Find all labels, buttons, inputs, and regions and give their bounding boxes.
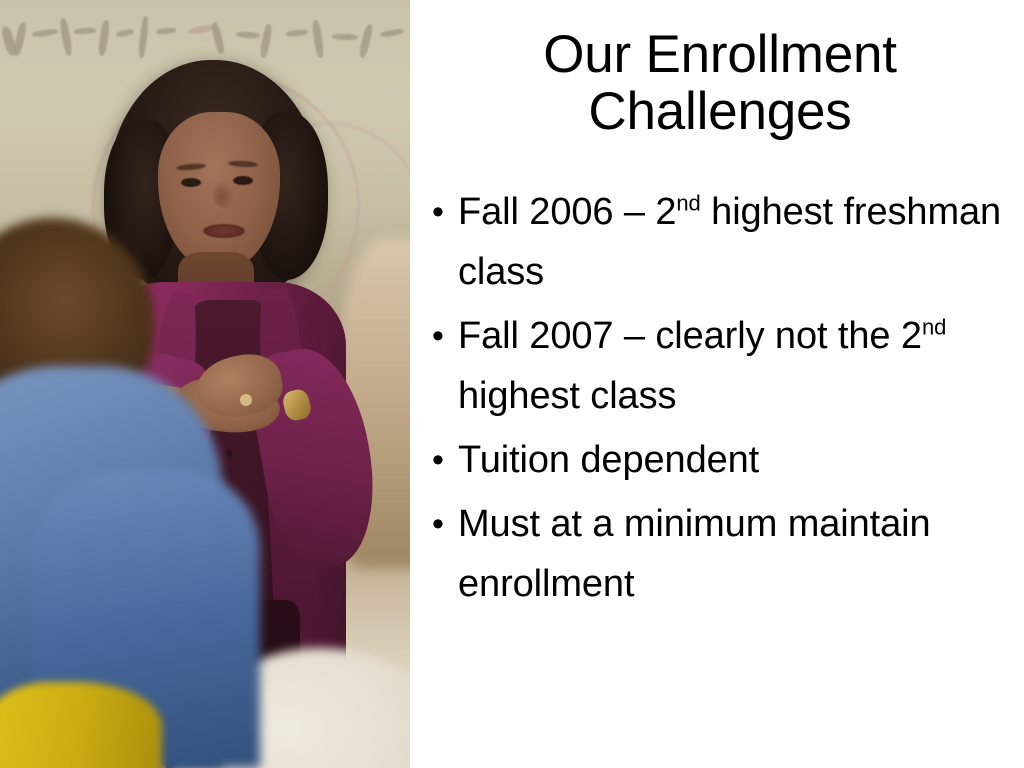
bullet-marker-icon: • bbox=[424, 182, 458, 242]
slide-title-line-1: Our Enrollment bbox=[432, 26, 1008, 83]
bullet-text: Must at a minimum maintain enrollment bbox=[458, 494, 1020, 614]
bullet-text-prefix: Must at a minimum maintain enrollment bbox=[458, 503, 931, 605]
speaker-ring bbox=[240, 394, 252, 406]
cardigan-button bbox=[226, 450, 233, 457]
bullet-text-superscript: nd bbox=[922, 314, 946, 339]
presentation-slide: Our Enrollment Challenges • Fall 2006 – … bbox=[0, 0, 1024, 768]
bullet-text-superscript: nd bbox=[676, 190, 700, 215]
speaker-nose bbox=[213, 180, 235, 208]
slide-title: Our Enrollment Challenges bbox=[432, 26, 1008, 140]
bullet-text: Fall 2007 – clearly not the 2nd highest … bbox=[458, 306, 1020, 426]
bullet-text-suffix: highest class bbox=[458, 375, 676, 417]
bullet-text: Fall 2006 – 2nd highest freshman class bbox=[458, 182, 1020, 302]
list-item: • Tuition dependent bbox=[424, 430, 1020, 490]
bullet-marker-icon: • bbox=[424, 494, 458, 554]
slide-content: Our Enrollment Challenges • Fall 2006 – … bbox=[410, 0, 1024, 768]
list-item: • Fall 2007 – clearly not the 2nd highes… bbox=[424, 306, 1020, 426]
bullet-text: Tuition dependent bbox=[458, 430, 1020, 490]
speaker-eye bbox=[181, 178, 201, 187]
speaker-mouth bbox=[203, 224, 245, 238]
list-item: • Must at a minimum maintain enrollment bbox=[424, 494, 1020, 614]
foreground-yellow-object bbox=[0, 682, 162, 768]
speaker-eye bbox=[233, 176, 253, 185]
bullet-text-prefix: Tuition dependent bbox=[458, 439, 759, 481]
slide-title-line-2: Challenges bbox=[432, 83, 1008, 140]
slide-photo bbox=[0, 0, 410, 768]
bullet-text-prefix: Fall 2007 – clearly not the 2 bbox=[458, 315, 922, 357]
bullet-marker-icon: • bbox=[424, 306, 458, 366]
bullet-text-prefix: Fall 2006 – 2 bbox=[458, 191, 676, 233]
list-item: • Fall 2006 – 2nd highest freshman class bbox=[424, 182, 1020, 302]
bullet-marker-icon: • bbox=[424, 430, 458, 490]
bullet-list: • Fall 2006 – 2nd highest freshman class… bbox=[424, 182, 1020, 618]
